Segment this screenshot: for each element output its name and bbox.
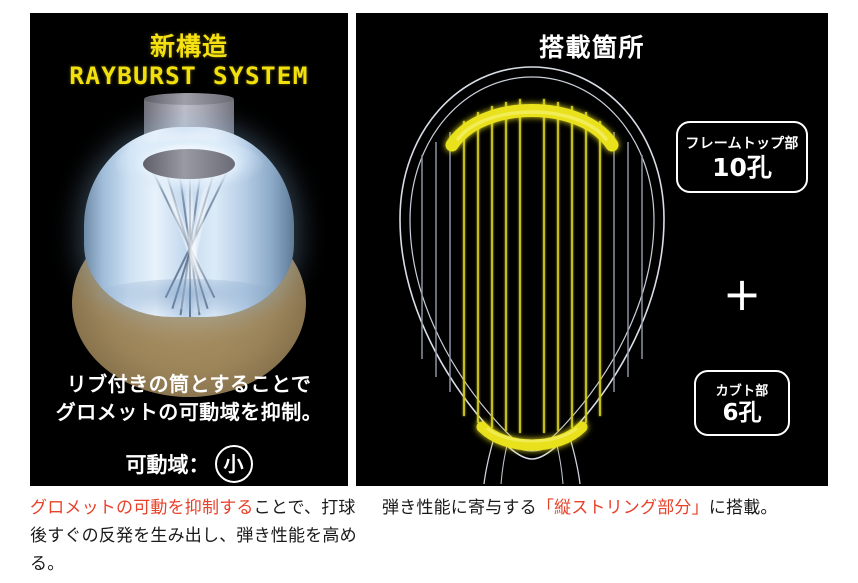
badge-kabuto-label: カブト部 xyxy=(716,380,769,399)
left-panel-description: リブ付きの筒とすることで グロメットの可動域を抑制。 xyxy=(30,370,348,426)
plus-icon: + xyxy=(676,271,808,317)
ribbed-grommet-illustration xyxy=(30,97,348,367)
grommet-tube-top-ellipse xyxy=(144,93,234,105)
caption-left: グロメットの可動を抑制することで、打球後すぐの反発を生み出し、弾き性能を高める。 xyxy=(30,494,360,578)
movement-range-label: 可動域： xyxy=(126,449,210,479)
movement-range-value-badge: 小 xyxy=(215,445,253,483)
caption-left-highlight: グロメットの可動を抑制する xyxy=(30,498,254,518)
left-panel-title-jp: 新構造 xyxy=(30,27,348,63)
left-panel: 新構造 RAYBURST SYSTEM リブ付きの筒とすることで グロメットの可… xyxy=(30,13,348,486)
caption-right-suffix: に搭載。 xyxy=(709,498,778,518)
badge-frame-top-value: 10孔 xyxy=(712,155,772,181)
right-panel: 搭載箇所 xyxy=(356,13,828,486)
movement-range-row: 可動域： 小 xyxy=(30,445,348,483)
badge-kabuto-value: 6孔 xyxy=(722,401,761,425)
racket-throat-right-inner xyxy=(556,441,563,484)
tennis-racket-illustration xyxy=(386,59,678,484)
racket-strings-highlighted xyxy=(464,99,600,433)
grommet-inner-hole xyxy=(143,149,235,179)
left-panel-description-line1: リブ付きの筒とすることで xyxy=(30,370,348,398)
racket-inner-frame xyxy=(410,77,654,448)
racket-svg xyxy=(386,59,678,484)
left-panel-description-line2: グロメットの可動域を抑制。 xyxy=(30,398,348,426)
badge-frame-top: フレームトップ部 10孔 xyxy=(676,121,808,193)
caption-right-prefix: 弾き性能に寄与する xyxy=(382,498,537,518)
racket-throat-left-inner xyxy=(501,441,508,484)
left-panel-title-en: RAYBURST SYSTEM xyxy=(30,62,348,90)
badge-frame-top-label: フレームトップ部 xyxy=(685,133,798,153)
grommet-bottom-shade xyxy=(90,279,288,319)
caption-right: 弾き性能に寄与する「縦ストリング部分」に搭載。 xyxy=(382,494,852,522)
badge-kabuto: カブト部 6孔 xyxy=(694,370,790,436)
racket-strings-normal xyxy=(422,132,642,392)
frame-top-highlight-arc xyxy=(452,111,612,146)
caption-right-highlight: 「縦ストリング部分」 xyxy=(537,498,709,518)
